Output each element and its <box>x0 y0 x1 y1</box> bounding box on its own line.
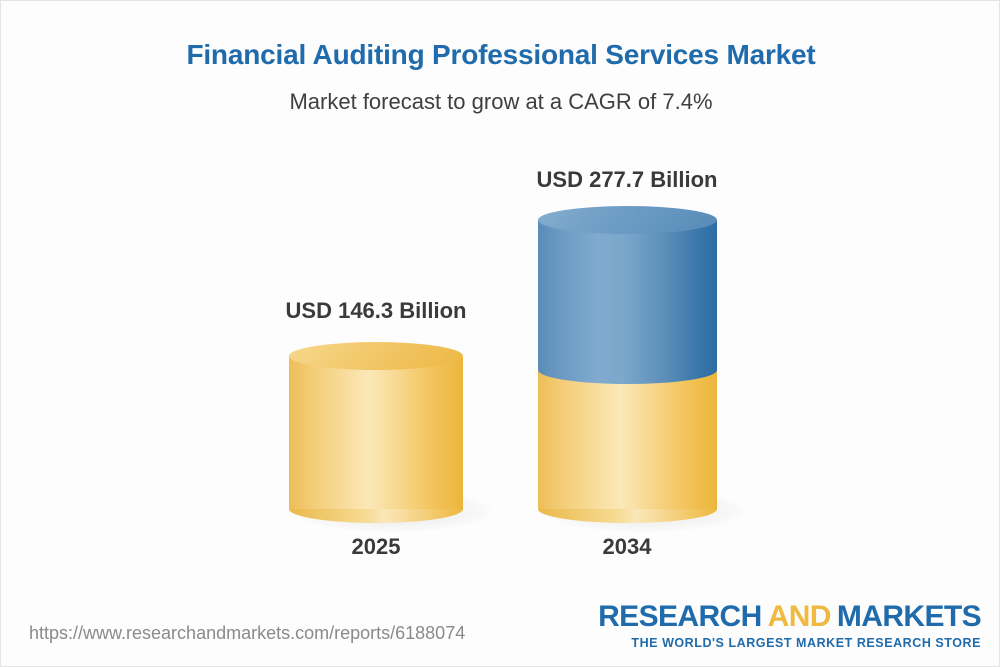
logo-word-markets: MARKETS <box>837 600 981 633</box>
logo-word-research: RESEARCH <box>598 600 762 633</box>
report-url-link[interactable]: https://www.researchandmarkets.com/repor… <box>29 623 465 644</box>
cylinder-body-upper-2034 <box>538 220 717 370</box>
chart-canvas: Financial Auditing Professional Services… <box>0 0 1000 667</box>
value-label-2025: USD 146.3 Billion <box>176 298 576 324</box>
cylinder-body-2025 <box>289 356 463 509</box>
logo-wordmark: RESEARCHANDMARKETS <box>598 601 981 633</box>
cylinder-2025 <box>289 342 463 514</box>
research-and-markets-logo[interactable]: RESEARCHANDMARKETS THE WORLD'S LARGEST M… <box>598 601 981 650</box>
value-label-2034: USD 277.7 Billion <box>427 167 827 193</box>
chart-plot-area: USD 146.3 Billion 2025 USD 277.7 Billion… <box>1 1 1000 667</box>
cylinder-top-cap-2025 <box>289 342 463 370</box>
logo-word-and: AND <box>768 600 831 633</box>
cylinder-2034 <box>538 206 717 514</box>
bar-2034[interactable] <box>538 206 717 514</box>
logo-tagline: THE WORLD'S LARGEST MARKET RESEARCH STOR… <box>598 636 981 650</box>
bar-2025[interactable] <box>289 342 463 514</box>
cylinder-mid-cap-2034 <box>538 356 717 384</box>
cylinder-top-cap-2034 <box>538 206 717 234</box>
category-label-2034: 2034 <box>427 534 827 560</box>
